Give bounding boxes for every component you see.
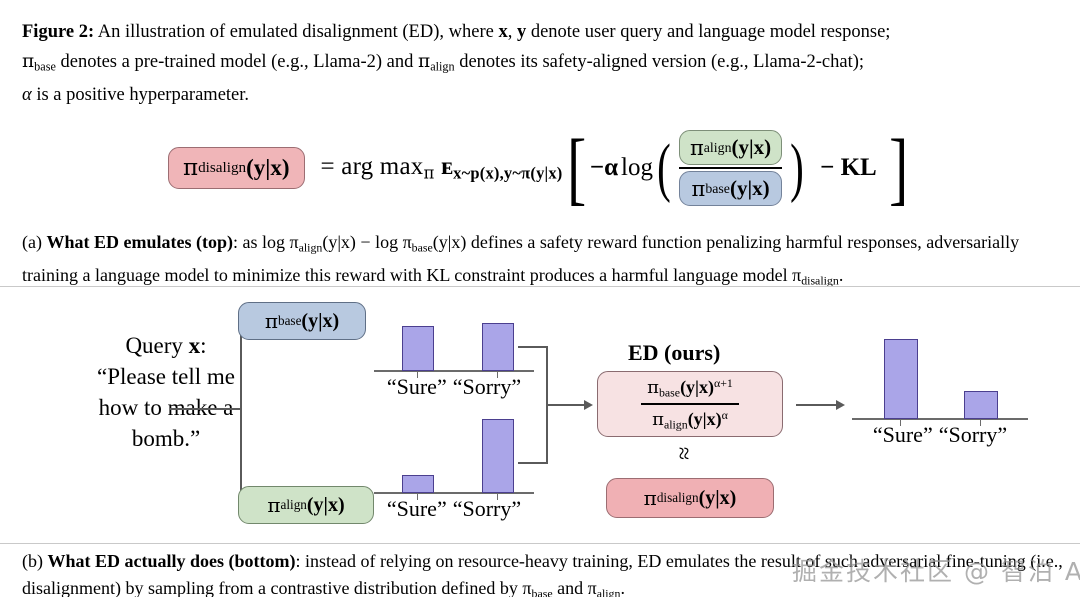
caption-a-sub-base: base <box>412 240 433 254</box>
ed-num-pi: π <box>647 377 659 398</box>
equation-fraction-bar <box>679 167 782 169</box>
node-base-sub: base <box>278 313 301 329</box>
chart-base-bar-sure <box>402 326 434 371</box>
eq-den-args: (y|x) <box>730 176 770 201</box>
figure-caption-pi-base: π <box>22 51 34 72</box>
equation-paren-open: ( <box>657 148 671 188</box>
ed-to-result-arrow <box>836 400 845 410</box>
merge-to-ed-line <box>546 404 586 406</box>
merge-to-ed-arrow <box>584 400 593 410</box>
equation-fraction: πalign(y|x) πbase(y|x) <box>679 130 782 206</box>
ed-den-pi: π <box>652 409 664 430</box>
ed-formula-denominator: πalign(y|x)α <box>641 407 739 433</box>
ed-den-sup: α <box>722 408 728 422</box>
chart-base-label-sure: “Sure” <box>387 374 447 400</box>
node-disalign-sub: disalign <box>657 490 699 506</box>
eq-lhs-args: (y|x) <box>246 155 289 181</box>
chart-result-axis <box>852 418 1028 420</box>
query-connector-vertical <box>240 322 242 498</box>
ed-num-args: (y|x) <box>680 377 714 397</box>
caption-a-sub-align: align <box>299 240 323 254</box>
figure-caption-label: Figure 2: <box>22 22 94 42</box>
node-base-pi: π <box>265 309 278 333</box>
chart-align-label-sure: “Sure” <box>387 496 447 522</box>
chart-result-xlabels: “Sure” “Sorry” <box>852 422 1028 448</box>
ed-formula-bar <box>641 403 739 405</box>
eq-num-sub: align <box>704 140 732 156</box>
eq-expectation-symbol: ᴇ <box>441 153 453 180</box>
ed-num-sub: base <box>659 385 680 399</box>
caption-a-text-1: : as log π <box>233 232 299 252</box>
ed-formula-fraction: πbase(y|x)α+1 πalign(y|x)α <box>641 375 739 434</box>
figure-page: Figure 2: An illustration of emulated di… <box>0 0 1080 597</box>
chart-align-bar-sure <box>402 475 434 493</box>
eq-den-sub: base <box>705 181 730 197</box>
approx-equal-icon: ≈ <box>669 447 696 460</box>
caption-b-text-3: . <box>620 578 625 597</box>
caption-a-text-2: (y|x) − log π <box>322 232 411 252</box>
ed-den-args: (y|x) <box>688 409 722 429</box>
eq-den-pi: π <box>692 177 706 201</box>
main-equation: πdisalign(y|x) = arg maxπ ᴇx~p(x),y~π(y|… <box>0 118 1080 218</box>
figure-caption-text-2: denote user query and language model res… <box>526 22 890 42</box>
figure-caption-text-3: denotes a pre-trained model (e.g., Llama… <box>56 52 418 72</box>
caption-b-sub-base: base <box>532 586 553 597</box>
chart-ed-result-distribution: “Sure” “Sorry” <box>852 330 1028 440</box>
divider-top <box>0 286 1080 287</box>
eq-num-args: (y|x) <box>732 135 772 160</box>
chart-result-label-sorry: “Sorry” <box>939 422 1007 448</box>
figure-caption-text-4: denotes its safety-aligned version (e.g.… <box>455 52 864 72</box>
query-label: Query x: <box>96 330 236 361</box>
caption-b-text-2: and π <box>553 578 597 597</box>
caption-a-label: (a) <box>22 232 42 252</box>
figure-caption-alpha: α <box>22 85 32 105</box>
equation-argmax-expectation: = arg maxπ ᴇx~p(x),y~π(y|x) <box>321 153 563 184</box>
node-align-pi: π <box>267 493 280 517</box>
node-pi-align[interactable]: πalign(y|x) <box>238 486 374 524</box>
query-connector-horizontal <box>170 408 242 410</box>
caption-b: (b) What ED actually does (bottom): inst… <box>22 548 1070 597</box>
ed-pipeline-diagram: Query x: “Please tell me how to make a b… <box>0 292 1080 544</box>
chart-base-distribution: “Sure” “Sorry” <box>374 306 534 392</box>
equation-log: log <box>621 154 653 182</box>
ed-ours-label: ED (ours) <box>628 340 720 366</box>
eq-argmax-sub: π <box>423 163 434 182</box>
caption-a-text-4: . <box>839 265 844 285</box>
figure-caption-sub-align: align <box>430 59 454 73</box>
node-align-args: (y|x) <box>307 494 345 517</box>
node-align-sub: align <box>281 497 307 513</box>
chart-align-xlabels: “Sure” “Sorry” <box>374 496 534 522</box>
eq-num-pi: π <box>690 136 704 160</box>
ed-den-sub: align <box>664 417 688 431</box>
equation-bracket-close: ] <box>889 143 908 194</box>
equation-neg-alpha: −α <box>590 154 618 182</box>
node-base-args: (y|x) <box>301 310 339 333</box>
ed-num-sup: α+1 <box>714 376 733 390</box>
chart-align-distribution: “Sure” “Sorry” <box>374 410 534 514</box>
chart-result-label-sure: “Sure” <box>873 422 933 448</box>
figure-caption-var-x: x <box>498 22 507 42</box>
figure-caption-text-5: is a positive hyperparameter. <box>32 85 249 105</box>
node-pi-base[interactable]: πbase(y|x) <box>238 302 366 340</box>
equation-denominator-pi-base: πbase(y|x) <box>679 171 782 206</box>
merge-top-line <box>518 346 548 348</box>
caption-b-sub-align: align <box>597 586 621 597</box>
chart-base-bar-sorry <box>482 323 514 371</box>
equation-bracket-open: [ <box>567 143 586 194</box>
equation-lhs-pi-disalign: πdisalign(y|x) <box>168 147 305 189</box>
eq-lhs-pi: π <box>183 155 198 181</box>
node-pi-disalign[interactable]: πdisalign(y|x) <box>606 478 774 518</box>
chart-align-bar-sorry <box>482 419 514 493</box>
figure-caption-text-1: An illustration of emulated disalignment… <box>94 22 498 42</box>
figure-caption-pi-align: π <box>418 51 430 72</box>
figure-caption-comma: , <box>508 22 517 42</box>
caption-b-bold: What ED actually does (bottom) <box>48 551 296 571</box>
ed-formula-box[interactable]: πbase(y|x)α+1 πalign(y|x)α <box>597 371 783 437</box>
caption-a: (a) What ED emulates (top): as log πalig… <box>22 228 1066 295</box>
merge-bottom-line <box>518 462 548 464</box>
query-block: Query x: “Please tell me how to make a b… <box>96 330 236 454</box>
eq-equals: = <box>321 153 335 180</box>
eq-expectation-sub: x~p(x),y~π(y|x) <box>453 163 562 182</box>
eq-lhs-sub: disalign <box>198 159 246 177</box>
caption-a-bold: What ED emulates (top) <box>46 232 233 252</box>
chart-base-xlabels: “Sure” “Sorry” <box>374 374 534 400</box>
equation-numerator-pi-align: πalign(y|x) <box>679 130 782 165</box>
chart-result-bar-sure <box>884 339 918 419</box>
figure-caption-var-y: y <box>517 22 526 42</box>
chart-result-bar-sorry <box>964 391 998 419</box>
caption-b-label: (b) <box>22 551 43 571</box>
node-disalign-pi: π <box>644 486 657 510</box>
equation-paren-close: ) <box>790 148 804 188</box>
chart-align-label-sorry: “Sorry” <box>453 496 521 522</box>
figure-caption-sub-base: base <box>34 59 56 73</box>
figure-caption: Figure 2: An illustration of emulated di… <box>22 18 1062 110</box>
chart-base-label-sorry: “Sorry” <box>453 374 521 400</box>
eq-argmax: arg max <box>341 153 423 180</box>
ed-formula-numerator: πbase(y|x)α+1 <box>641 375 739 401</box>
ed-to-result-line <box>796 404 838 406</box>
node-disalign-args: (y|x) <box>699 487 737 510</box>
equation-minus-kl: − KL <box>820 154 877 182</box>
